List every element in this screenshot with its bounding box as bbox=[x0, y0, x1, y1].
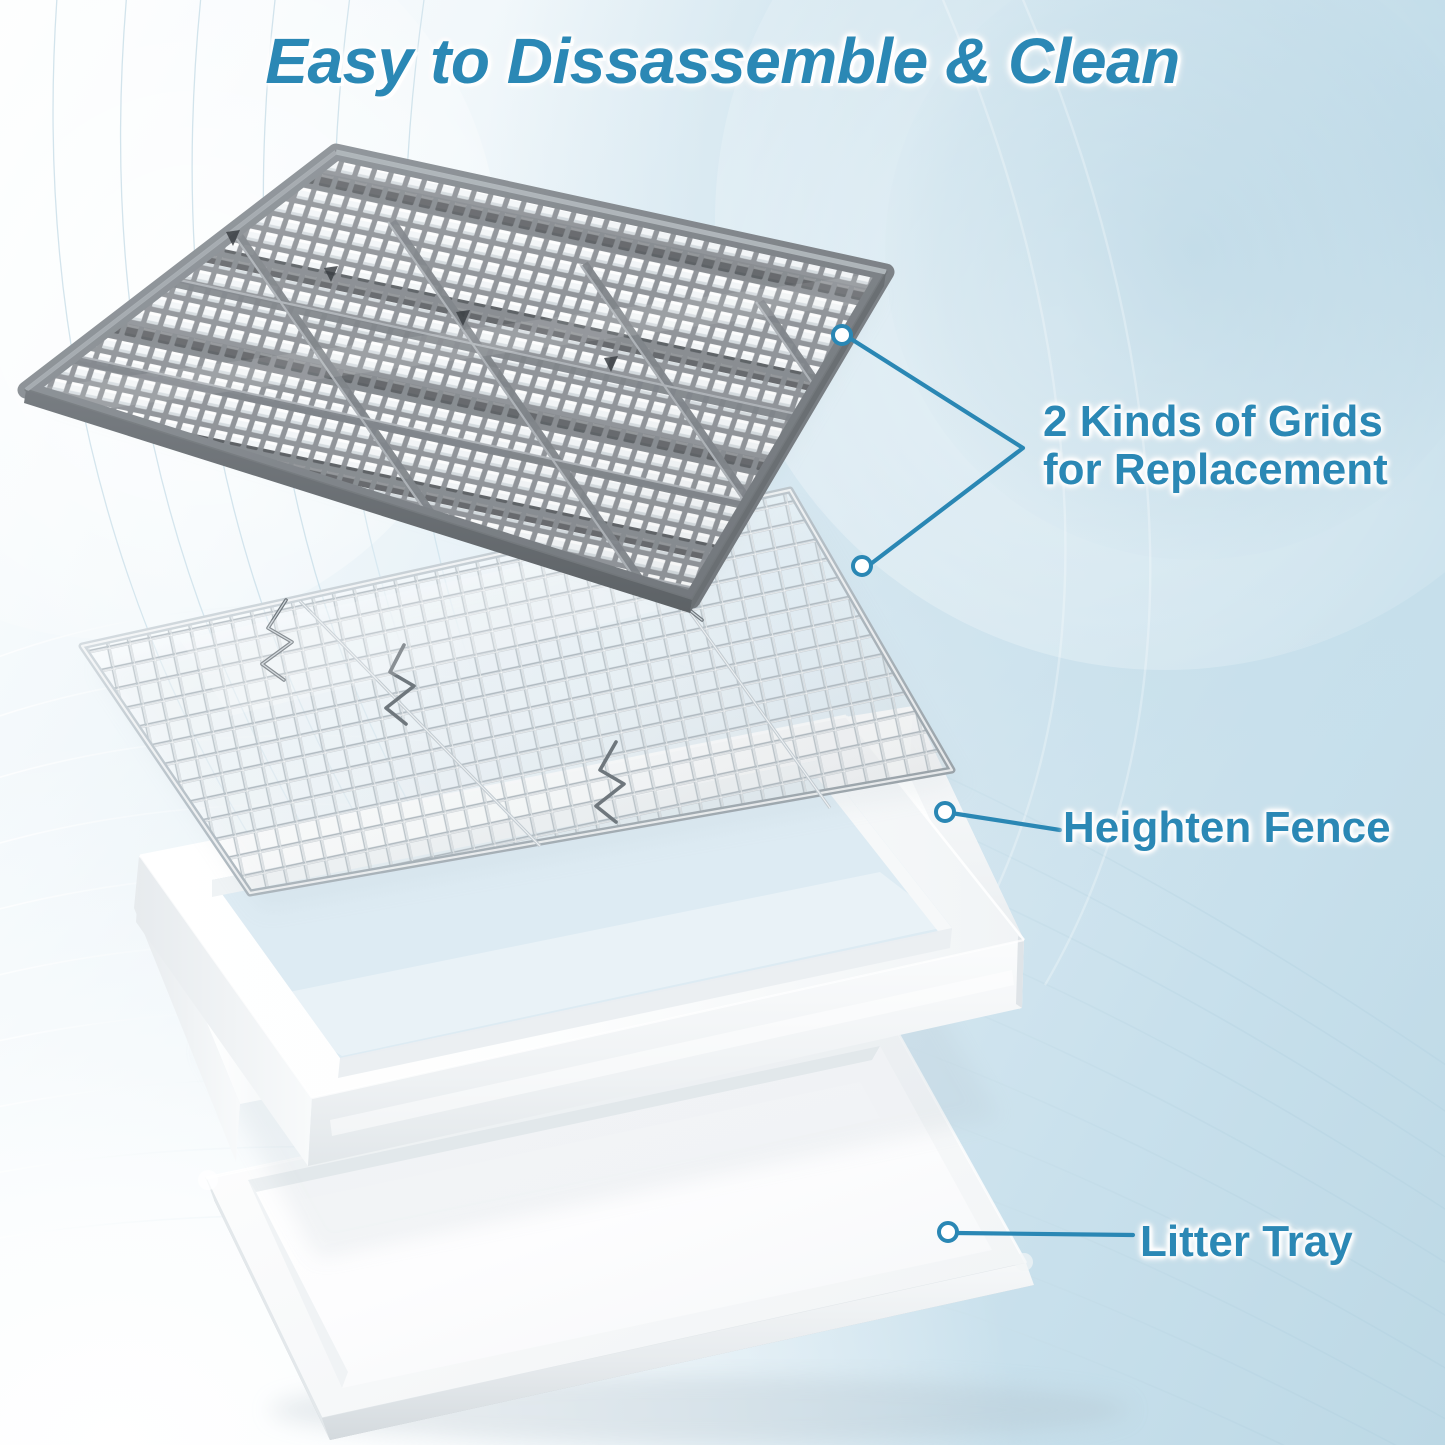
marker-tray bbox=[939, 1223, 957, 1241]
marker-fence bbox=[936, 803, 954, 821]
leader-line-tray bbox=[956, 1233, 1133, 1235]
callout-label-grids: 2 Kinds of Grids for Replacement bbox=[1043, 398, 1388, 493]
callout-label-litter-tray: Litter Tray bbox=[1140, 1218, 1353, 1266]
marker-wire-grid bbox=[853, 557, 871, 575]
page-title: Easy to Dissassemble & Clean bbox=[0, 24, 1445, 98]
marker-plastic-grid bbox=[833, 326, 851, 344]
leader-line-grids bbox=[848, 337, 1023, 566]
callout-label-heighten-fence: Heighten Fence bbox=[1063, 804, 1391, 852]
infographic-canvas: Easy to Dissassemble & Clean 2 Kinds of … bbox=[0, 0, 1445, 1445]
